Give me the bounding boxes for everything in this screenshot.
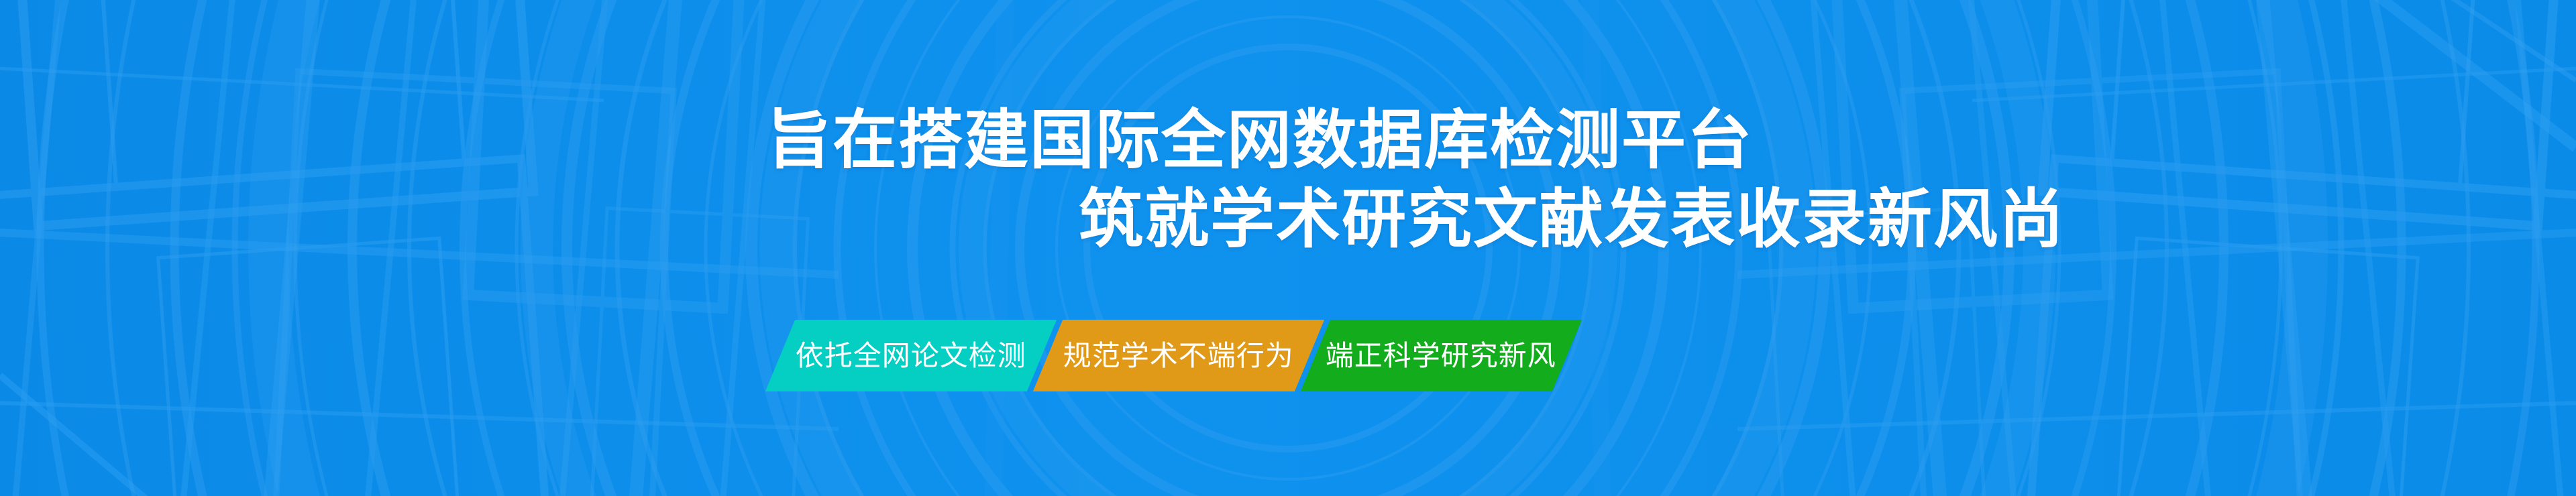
headline-block: 旨在搭建国际全网数据库检测平台 筑就学术研究文献发表收录新风尚 [0,101,2576,259]
feature-badge-misconduct[interactable]: 规范学术不端行为 [1033,320,1324,391]
feature-badge-research-ethos[interactable]: 端正科学研究新风 [1301,320,1582,391]
promo-banner: 旨在搭建国际全网数据库检测平台 筑就学术研究文献发表收录新风尚 依托全网论文检测… [0,0,2576,496]
headline-line-2: 筑就学术研究文献发表收录新风尚 [1079,180,2576,259]
feature-badge-label: 端正科学研究新风 [1326,342,1556,370]
feature-badge-label: 规范学术不端行为 [1063,342,1294,370]
headline-line-1: 旨在搭建国际全网数据库检测平台 [767,101,2576,180]
feature-badge-strip: 依托全网论文检测 规范学术不端行为 端正科学研究新风 [780,320,1567,391]
feature-badge-paper-detection[interactable]: 依托全网论文检测 [765,320,1057,391]
feature-badge-label: 依托全网论文检测 [796,342,1026,370]
